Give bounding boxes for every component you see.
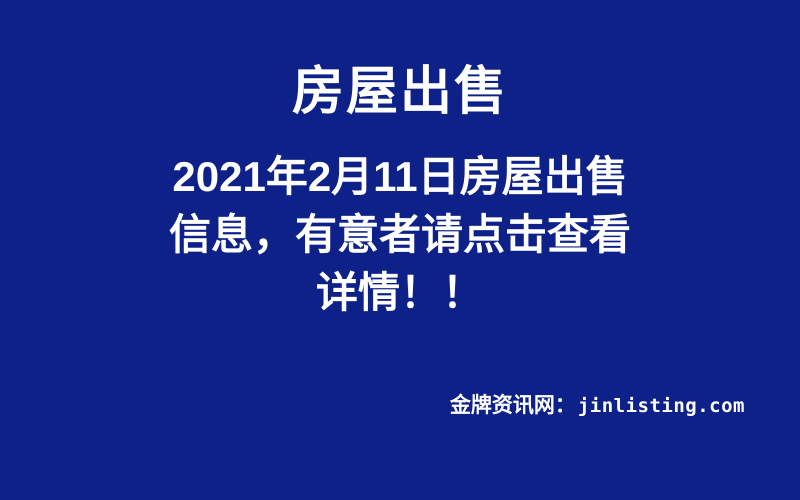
body-line: 信息，有意者请点击查看	[60, 206, 740, 264]
poster-canvas: 房屋出售 2021年2月11日房屋出售 信息，有意者请点击查看 详情！！ 金牌资…	[0, 0, 800, 500]
site-name: 金牌资讯网	[450, 393, 555, 419]
announcement-body: 2021年2月11日房屋出售 信息，有意者请点击查看 详情！！	[60, 148, 740, 322]
site-credit: 金牌资讯网 ： jinlisting.com	[450, 393, 745, 419]
body-line: 2021年2月11日房屋出售	[60, 148, 740, 206]
site-domain: jinlisting.com	[578, 393, 745, 419]
site-credit-separator: ：	[555, 393, 576, 419]
body-line: 详情！！	[60, 264, 740, 322]
page-title: 房屋出售	[0, 62, 800, 122]
